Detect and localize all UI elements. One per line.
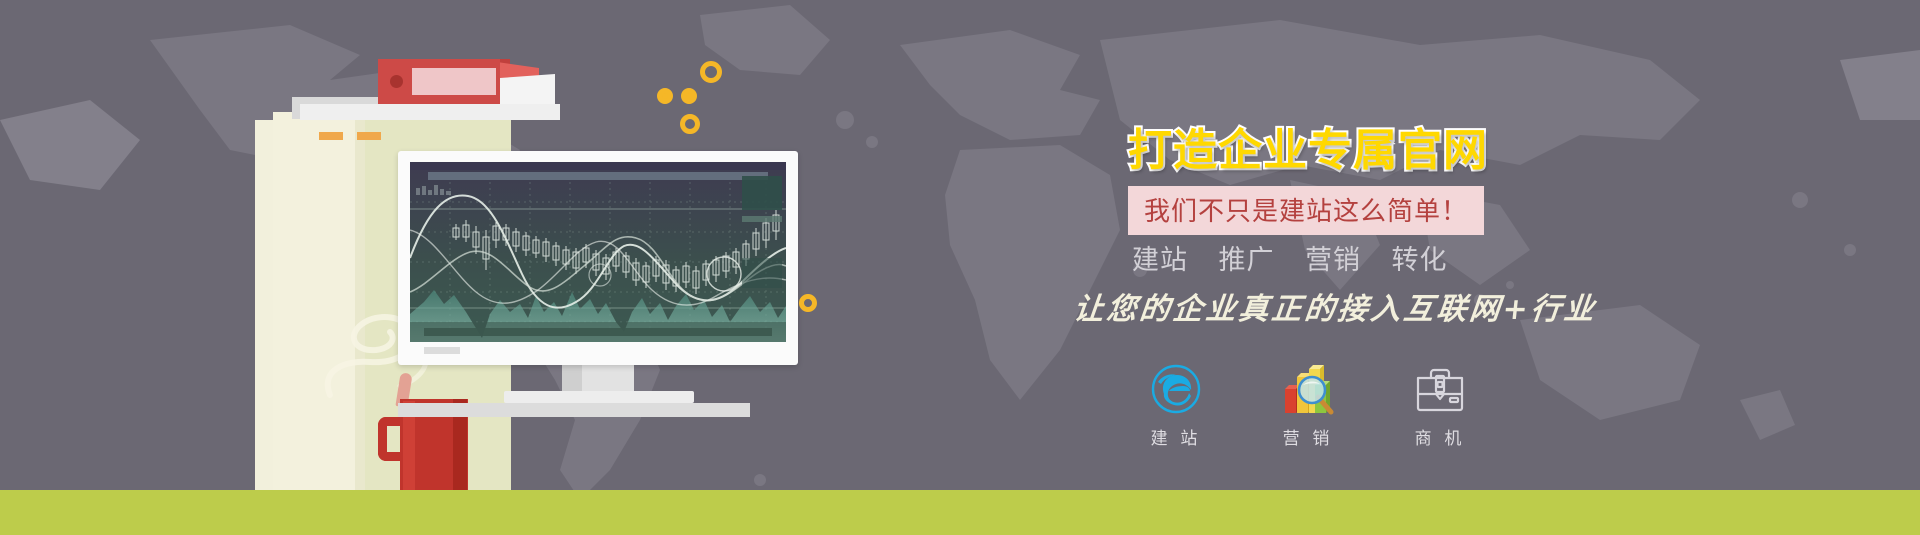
feature-label-marketing: 营 销 [1272,424,1344,449]
feature-item-marketing[interactable]: 营 销 [1272,358,1344,449]
promo-tagline: 让您的企业真正的接入互联网+行业 [1072,284,1600,328]
feature-label-website: 建 站 [1140,424,1212,449]
promo-keywords: 建站 推广 营销 转化 [1132,238,1448,277]
promo-content: 打造企业专属官网 我们不只是建站这么简单！ 建站 推广 营销 转化 让您的企业真… [1060,0,1660,535]
green-floor-strip [0,490,1920,535]
keyword-item-3: 转化 [1392,245,1448,275]
map-pin-3 [681,88,697,104]
binder-ring-hole [390,75,403,88]
monitor-screen [410,162,786,342]
promo-banner: 打造企业专属官网 我们不只是建站这么简单！ 建站 推广 营销 转化 让您的企业真… [0,0,1920,535]
keyword-item-2: 营销 [1305,245,1361,275]
keyword-item-0: 建站 [1132,245,1188,275]
monitor-logo [424,347,460,354]
feature-label-opportunity: 商 机 [1404,424,1476,449]
binder-label [412,68,496,95]
feature-icon-row: 建 站 [1140,358,1476,449]
map-pin-5 [799,294,817,312]
promo-headline: 打造企业专属官网 [1128,114,1488,178]
promo-subtitle: 我们不只是建站这么简单！ [1128,186,1484,235]
feature-item-opportunity[interactable]: 商 机 [1404,358,1476,449]
monitor-base [504,391,694,403]
paper-stack [300,104,560,120]
map-pin-2 [657,88,673,104]
feature-item-website[interactable]: 建 站 [1140,358,1212,449]
briefcase-icon [1404,358,1476,420]
monitor-frame [398,151,798,365]
book-back-cover [255,120,275,490]
monitor-stand-shadow [562,365,582,391]
desk-surface [398,403,750,417]
map-pin-1 [700,61,722,83]
book-cover-marks [319,132,411,140]
bar-chart-magnifier-icon [1272,358,1344,420]
internet-explorer-icon [1140,358,1212,420]
stock-chart [410,162,786,342]
map-pin-4 [680,114,700,134]
desk-illustration [0,0,900,535]
binder-paper [500,74,555,104]
keyword-item-1: 推广 [1219,245,1275,275]
